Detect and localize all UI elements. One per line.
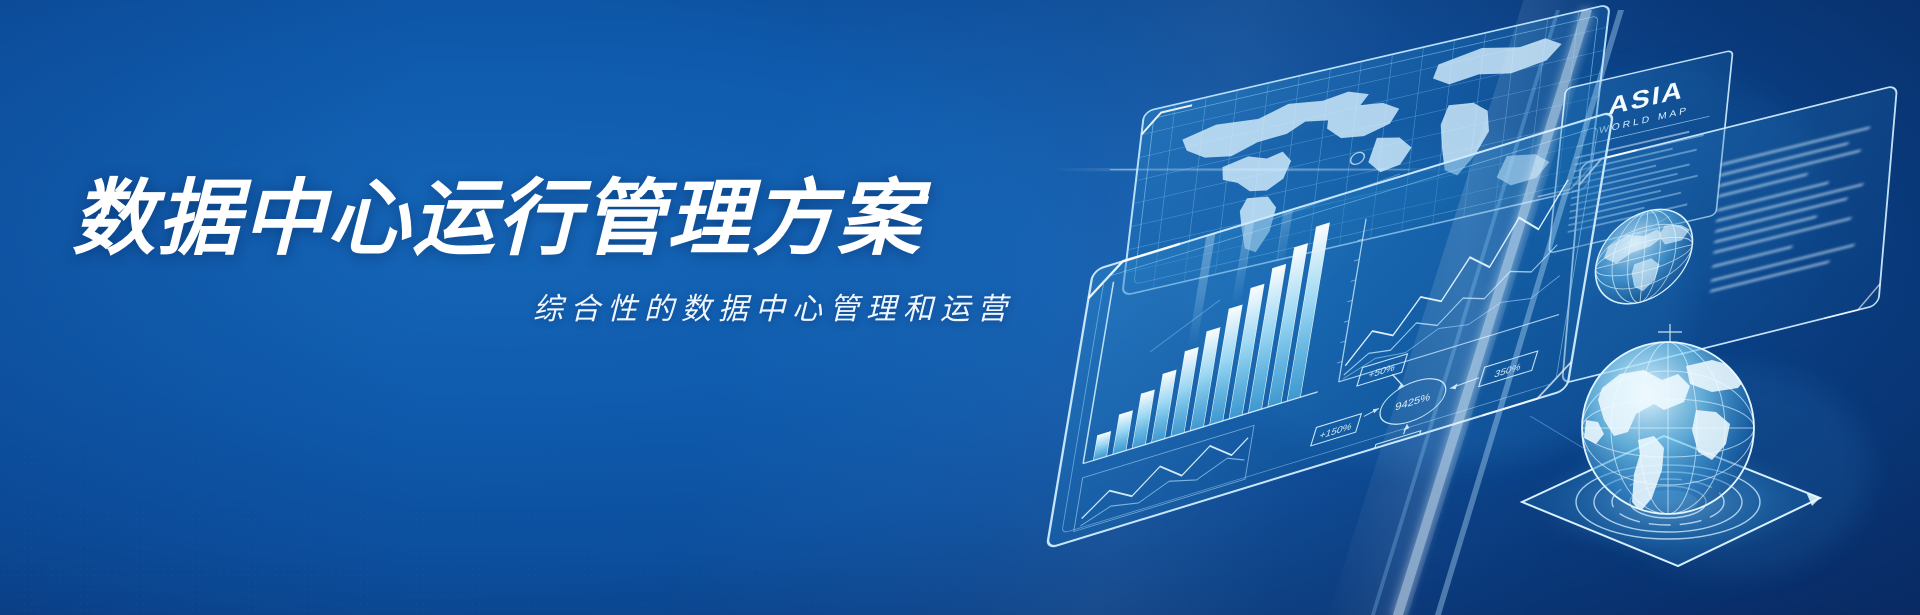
page-title: 数据中心运行管理方案 <box>72 176 1032 262</box>
hero-banner: 数据中心运行管理方案 综合性的数据中心管理和运营 <box>0 0 1920 615</box>
banner-text-block: 数据中心运行管理方案 综合性的数据中心管理和运营 <box>72 176 1032 328</box>
page-subtitle: 综合性的数据中心管理和运营 <box>72 284 1032 328</box>
hologram-illustration: ASIA WORLD MAP <box>970 0 1920 615</box>
